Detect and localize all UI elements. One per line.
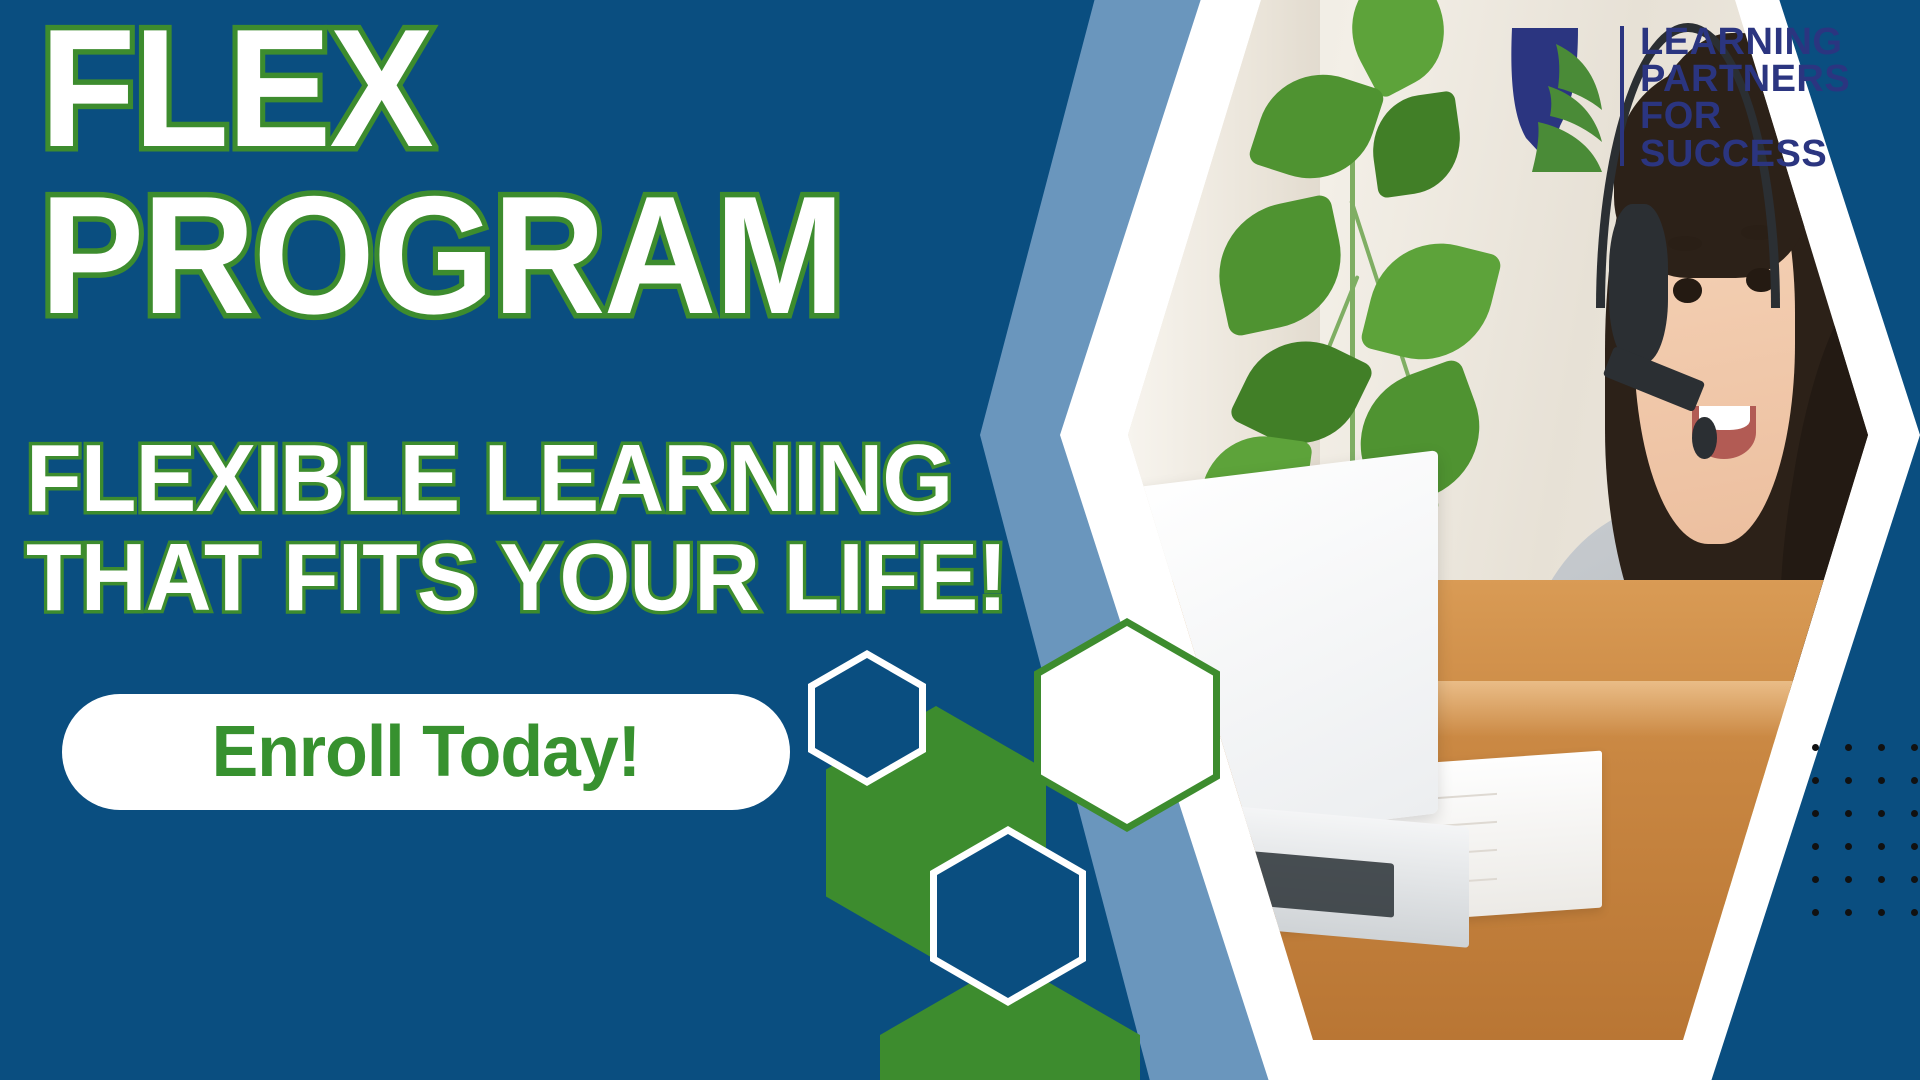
logo-line-1: LEARNING (1640, 24, 1850, 61)
dot (1845, 876, 1852, 883)
dot-grid-decoration (1812, 744, 1920, 916)
subheadline-line-1: FLEXIBLE LEARNING (26, 430, 938, 529)
subheadline-block: FLEXIBLE LEARNING THAT FITS YOUR LIFE! (26, 430, 986, 628)
logo-line-2: PARTNERS (1640, 61, 1850, 98)
dot (1878, 744, 1885, 751)
dot (1845, 843, 1852, 850)
headline-line-program: PROGRAM (40, 175, 877, 336)
dot (1911, 744, 1918, 751)
dot (1812, 876, 1819, 883)
promo-banner: FLEX PROGRAM FLEXIBLE LEARNING THAT FITS… (0, 0, 1920, 1080)
dot (1812, 777, 1819, 784)
shield-swoosh-icon (1482, 22, 1604, 172)
dot (1845, 909, 1852, 916)
logo-line-4: SUCCESS (1640, 136, 1850, 173)
dot (1911, 876, 1918, 883)
enroll-today-button[interactable]: Enroll Today! (62, 694, 790, 810)
logo-divider (1620, 26, 1624, 166)
dot (1812, 810, 1819, 817)
headline-line-flex: FLEX (40, 8, 877, 169)
dot (1911, 843, 1918, 850)
dot (1911, 810, 1918, 817)
dot (1878, 843, 1885, 850)
dot (1911, 777, 1918, 784)
dot (1878, 876, 1885, 883)
dot (1878, 777, 1885, 784)
dot (1845, 777, 1852, 784)
dot (1911, 909, 1918, 916)
brand-logo: LEARNING PARTNERS FOR SUCCESS (1482, 22, 1850, 173)
headline-block: FLEX PROGRAM (40, 8, 940, 337)
dot (1878, 909, 1885, 916)
dot (1812, 843, 1819, 850)
logo-line-3: FOR (1640, 98, 1850, 135)
dot (1845, 810, 1852, 817)
dot (1845, 744, 1852, 751)
dot (1812, 744, 1819, 751)
dot (1878, 810, 1885, 817)
subheadline-line-2: THAT FITS YOUR LIFE! (26, 529, 938, 628)
logo-wordmark: LEARNING PARTNERS FOR SUCCESS (1640, 24, 1850, 173)
enroll-today-label: Enroll Today! (212, 711, 640, 793)
dot (1812, 909, 1819, 916)
